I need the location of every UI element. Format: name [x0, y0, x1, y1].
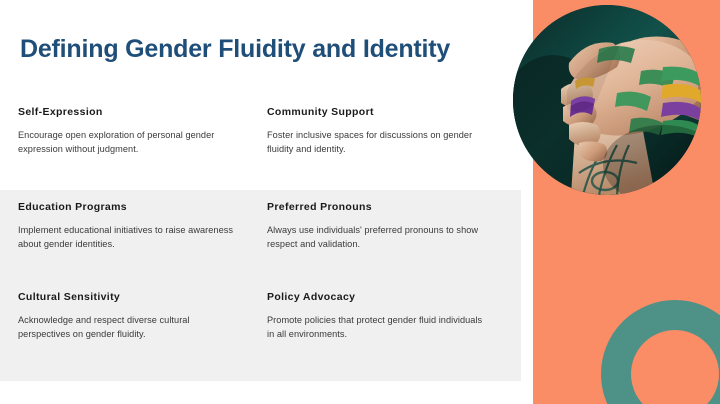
- feature-item-preferred-pronouns: Preferred Pronouns Always use individual…: [267, 201, 489, 251]
- feature-body: Implement educational initiatives to rai…: [18, 223, 240, 252]
- feature-body: Acknowledge and respect diverse cultural…: [18, 313, 240, 342]
- feature-heading: Preferred Pronouns: [267, 201, 489, 214]
- feature-item-self-expression: Self-Expression Encourage open explorati…: [18, 106, 240, 156]
- feature-body: Encourage open exploration of personal g…: [18, 128, 240, 157]
- feature-body: Promote policies that protect gender flu…: [267, 313, 489, 342]
- page-title: Defining Gender Fluidity and Identity: [20, 36, 490, 64]
- feature-body: Foster inclusive spaces for discussions …: [267, 128, 489, 157]
- feature-heading: Education Programs: [18, 201, 240, 214]
- feature-heading: Community Support: [267, 106, 489, 119]
- feature-item-education-programs: Education Programs Implement educational…: [18, 201, 240, 251]
- feature-heading: Cultural Sensitivity: [18, 291, 240, 304]
- slide: Defining Gender Fluidity and Identity Se…: [0, 0, 720, 404]
- feature-item-cultural-sensitivity: Cultural Sensitivity Acknowledge and res…: [18, 291, 240, 341]
- teal-ring-decoration: [601, 300, 720, 404]
- feature-item-policy-advocacy: Policy Advocacy Promote policies that pr…: [267, 291, 489, 341]
- feature-grid: Self-Expression Encourage open explorati…: [0, 106, 521, 381]
- feature-body: Always use individuals' preferred pronou…: [267, 223, 489, 252]
- feature-heading: Self-Expression: [18, 106, 240, 119]
- feature-item-community-support: Community Support Foster inclusive space…: [267, 106, 489, 156]
- photo-illustration: [513, 5, 701, 195]
- feature-heading: Policy Advocacy: [267, 291, 489, 304]
- hands-pride-paint-photo: [513, 5, 701, 195]
